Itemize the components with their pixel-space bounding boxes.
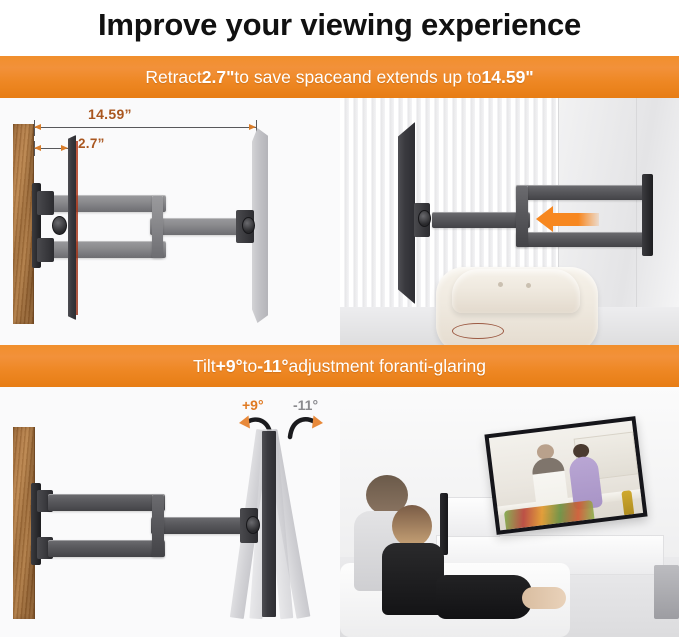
dimension-line-extended	[34, 127, 256, 128]
wall-bracket-upper	[37, 191, 54, 215]
dimension-label-extended: 14.59”	[88, 106, 132, 122]
sofa-backrest	[452, 269, 580, 313]
arrow-head	[536, 206, 553, 232]
sofa-cord-detail	[452, 323, 504, 339]
banner2-value-down: -11°	[257, 356, 288, 377]
wooden-wall-post	[13, 124, 34, 324]
viewer-child-body	[382, 543, 444, 615]
tilt-swivel-pivot	[246, 516, 260, 534]
banner-extension: Retract 2.7" to save spaceand extends up…	[0, 56, 679, 98]
section-extension: 14.59” 2.7”	[0, 98, 679, 345]
arrow-tail	[553, 213, 599, 226]
viewer-legs	[436, 575, 566, 621]
dimension-arrowhead-retracted-left	[34, 145, 41, 151]
dimension-arrowhead-right	[249, 124, 256, 130]
tilt-arrow-down-icon	[287, 413, 327, 441]
photo-arm-joint	[516, 185, 528, 247]
section-tilt: +9° -11°	[0, 387, 679, 637]
angle-label-up: +9°	[242, 397, 264, 413]
subwoofer	[654, 565, 679, 619]
viewer-legs-skirt	[436, 575, 532, 619]
arrow-retract-direction	[536, 206, 599, 232]
swivel-pivot-tv	[242, 217, 255, 234]
banner1-middle: to save spaceand extends up to	[234, 67, 481, 88]
banner1-value-retract: 2.7"	[202, 67, 235, 88]
tilt-arm-joint	[152, 494, 164, 557]
banner2-value-up: +9°	[216, 356, 243, 377]
extension-diagram: 14.59” 2.7”	[0, 98, 340, 345]
tilt-photo	[340, 387, 679, 637]
photo-tv-panel	[398, 122, 415, 304]
photo-arm-lower	[516, 232, 646, 247]
tilt-arm-extension	[151, 517, 246, 534]
infographic-page: Improve your viewing experience Retract …	[0, 0, 679, 637]
dimension-arrowhead-retracted-right	[61, 145, 68, 151]
banner2-prefix: Tilt	[193, 356, 216, 377]
tv-retracted-edge-highlight	[76, 141, 78, 315]
arm-lower-segment	[48, 241, 166, 258]
photo-swivel-pivot	[418, 210, 431, 227]
banner2-middle: to	[243, 356, 258, 377]
tilt-arm-upper	[48, 494, 165, 511]
photo-arm-upper	[516, 185, 646, 200]
mounted-tv	[484, 416, 647, 535]
tilt-diagram: +9° -11°	[0, 387, 340, 637]
viewer-feet	[522, 587, 566, 609]
banner1-value-extend: 14.59"	[482, 67, 534, 88]
room-scene-tilt	[340, 387, 679, 637]
extension-photo	[340, 98, 679, 345]
photo-wall-plate	[642, 174, 653, 256]
dimension-label-retracted: 2.7”	[78, 136, 105, 151]
dimension-arrowhead-left	[34, 124, 41, 130]
room-scene-extended	[340, 98, 679, 345]
page-title: Improve your viewing experience	[0, 0, 679, 50]
swivel-pivot-wall	[52, 216, 67, 235]
tv-tilt-neutral	[262, 431, 276, 617]
tilt-arm-lower	[48, 540, 165, 557]
tv-retracted-panel	[68, 135, 76, 320]
arm-extension-segment	[150, 218, 242, 235]
banner-tilt: Tilt +9° to -11° adjustment foranti-glar…	[0, 345, 679, 387]
viewer-child-head	[392, 505, 432, 547]
sofa-tuft	[498, 282, 503, 287]
tv-screen	[489, 421, 643, 531]
banner1-prefix: Retract	[145, 67, 201, 88]
sofa-tuft	[526, 283, 531, 288]
banner2-suffix: adjustment foranti-glaring	[289, 356, 486, 377]
arm-joint-vertical	[152, 195, 163, 258]
console-shelf	[444, 497, 500, 537]
wall-bracket-lower	[37, 238, 54, 262]
arm-upper-segment	[48, 195, 166, 212]
angle-label-down: -11°	[293, 397, 318, 413]
viewer-child	[382, 505, 444, 609]
